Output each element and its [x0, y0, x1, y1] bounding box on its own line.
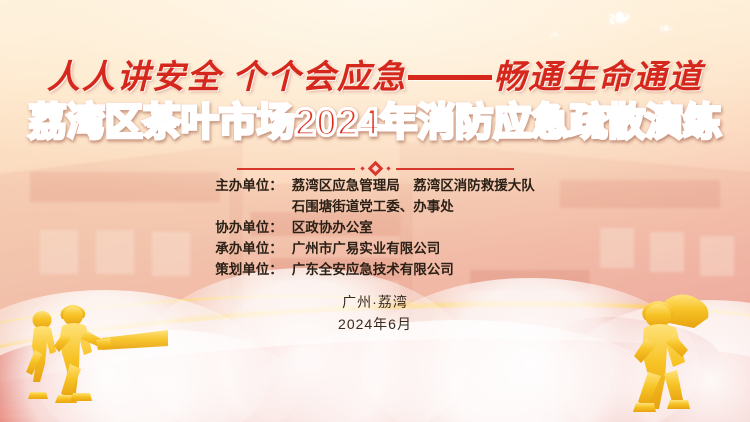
organizer-label: 策划单位：: [215, 260, 283, 280]
organizer-value: 广州市广易实业有限公司: [292, 239, 535, 259]
organizer-label: 承办单位：: [215, 239, 283, 259]
divider-line-left: [237, 168, 355, 170]
divider-diamond-icon: [367, 161, 383, 177]
poster-canvas: ❧ ❧ ❧: [0, 0, 750, 422]
dove-icon: ❧: [658, 21, 673, 38]
organizer-value: 石围塘街道党工委、办事处: [292, 197, 535, 217]
dove-icon: ❧: [547, 27, 562, 43]
divider-dot: [360, 166, 364, 170]
footer-location: 广州·荔湾: [0, 292, 750, 314]
organizer-label: 主办单位：: [215, 176, 283, 196]
organizer-value: 区政协办公室: [292, 218, 535, 238]
divider-dot: [386, 166, 390, 170]
organizer-label: [215, 197, 283, 217]
organizer-label: 协办单位：: [215, 218, 283, 238]
poster-title-text: 荔湾区茶叶市场2024年消防应急疏散演练: [29, 102, 722, 144]
poster-slogan: 人人讲安全 个个会应急畅通生命通道: [0, 50, 750, 98]
organizer-value: 荔湾区应急管理局 荔湾区消防救援大队: [292, 176, 535, 196]
footer-date: 2024年6月: [0, 314, 750, 336]
slogan-part2: 畅通生命通道: [493, 60, 703, 96]
divider-line-right: [396, 168, 514, 170]
slogan-part1: 人人讲安全 个个会应急: [47, 60, 407, 96]
slogan-dash: [408, 75, 492, 80]
organizer-block: 主办单位： 荔湾区应急管理局 荔湾区消防救援大队 石围塘街道党工委、办事处 协办…: [0, 176, 750, 280]
organizer-value: 广东全安应急技术有限公司: [292, 260, 535, 280]
ornament-divider: [0, 163, 750, 174]
organizer-grid: 主办单位： 荔湾区应急管理局 荔湾区消防救援大队 石围塘街道党工委、办事处 协办…: [215, 176, 535, 280]
poster-title: 荔湾区茶叶市场2024年消防应急疏散演练: [0, 104, 750, 142]
poster-footer: 广州·荔湾 2024年6月: [0, 292, 750, 335]
dove-icon: ❧: [604, 1, 636, 36]
